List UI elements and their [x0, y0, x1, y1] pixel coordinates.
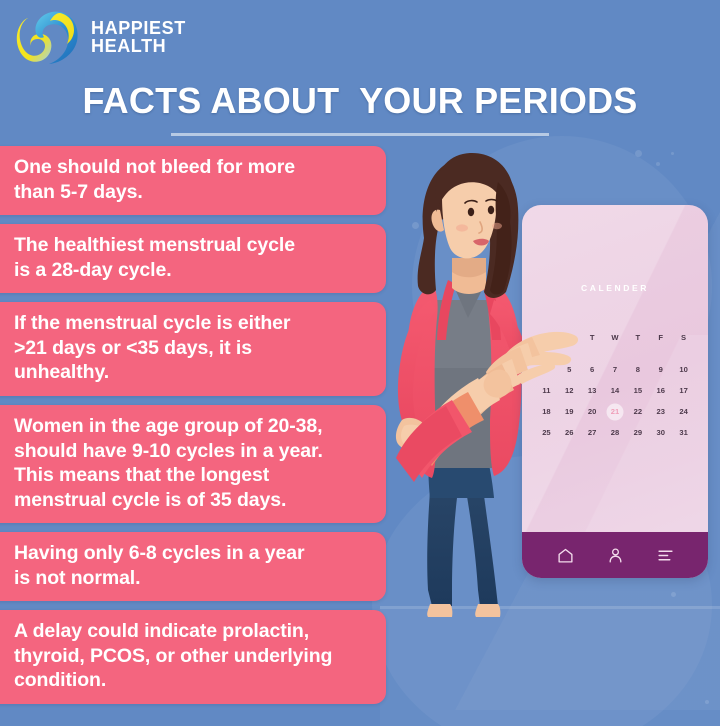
- brand-logo-block: HAPPIEST HEALTH: [16, 8, 186, 66]
- calendar-day[interactable]: 19: [558, 407, 581, 416]
- calendar-day[interactable]: 12: [558, 386, 581, 395]
- calendar-day[interactable]: 20: [581, 407, 604, 416]
- brand-line-2: HEALTH: [91, 37, 186, 55]
- calendar-day[interactable]: 10: [672, 365, 695, 374]
- day-header: S: [535, 333, 558, 342]
- calendar-day[interactable]: 7: [604, 365, 627, 374]
- calendar-day[interactable]: 22: [626, 407, 649, 416]
- calendar-day[interactable]: 28: [604, 428, 627, 437]
- calendar-day[interactable]: 25: [535, 428, 558, 437]
- calendar-day[interactable]: 13: [581, 386, 604, 395]
- calendar-title: CALENDER: [522, 283, 708, 293]
- background-floor: [380, 609, 720, 726]
- calendar-week-row: 11 12 13 14 15 16 17: [535, 386, 695, 395]
- calendar-day[interactable]: 24: [672, 407, 695, 416]
- background-dot: [656, 162, 660, 166]
- calendar-day[interactable]: 17: [672, 386, 695, 395]
- list-icon[interactable]: [657, 547, 674, 564]
- background-dot: [671, 592, 676, 597]
- day-header: S: [672, 333, 695, 342]
- calendar-day[interactable]: 11: [535, 386, 558, 395]
- calendar-day[interactable]: 4: [535, 365, 558, 374]
- infographic-poster: HAPPIEST HEALTH FACTS ABOUT YOUR PERIODS: [0, 0, 720, 726]
- calendar-week-row: 25 26 27 28 29 30 31: [535, 428, 695, 437]
- brand-line-1: HAPPIEST: [91, 19, 186, 37]
- calendar-day[interactable]: 18: [535, 407, 558, 416]
- calendar-day[interactable]: 6: [581, 365, 604, 374]
- home-icon[interactable]: [557, 547, 574, 564]
- calendar-day[interactable]: 14: [604, 386, 627, 395]
- fact-card: Women in the age group of 20-38, should …: [0, 405, 386, 523]
- day-header: T: [581, 333, 604, 342]
- calendar-day[interactable]: 5: [558, 365, 581, 374]
- facts-list: One should not bleed for more than 5-7 d…: [0, 146, 386, 713]
- calendar-day[interactable]: 9: [649, 365, 672, 374]
- day-header: F: [649, 333, 672, 342]
- title-underline: [171, 133, 549, 136]
- phone-mockup: CALENDER S M T W T F S 4 5 6 7 8 9 10: [522, 205, 708, 578]
- user-icon[interactable]: [607, 547, 624, 564]
- calendar-day[interactable]: 23: [649, 407, 672, 416]
- page-title: FACTS ABOUT YOUR PERIODS: [0, 80, 720, 136]
- brand-wordmark: HAPPIEST HEALTH: [91, 19, 186, 56]
- phone-bottom-nav: [522, 532, 708, 578]
- page-title-text: FACTS ABOUT YOUR PERIODS: [82, 80, 637, 122]
- calendar-day-headers: S M T W T F S: [535, 333, 695, 342]
- fact-card: One should not bleed for more than 5-7 d…: [0, 146, 386, 215]
- background-dot: [412, 222, 419, 229]
- calendar-week-row: 18 19 20 21 22 23 24: [535, 407, 695, 416]
- fact-card: Having only 6-8 cycles in a year is not …: [0, 532, 386, 601]
- background-dot: [635, 150, 642, 157]
- day-header: M: [558, 333, 581, 342]
- background-ground-line: [380, 606, 720, 609]
- calendar-week-row: 4 5 6 7 8 9 10: [535, 365, 695, 374]
- calendar-day[interactable]: 26: [558, 428, 581, 437]
- background-dot: [671, 152, 674, 155]
- calendar-day[interactable]: 27: [581, 428, 604, 437]
- day-header: T: [626, 333, 649, 342]
- calendar-day[interactable]: 29: [626, 428, 649, 437]
- fact-card: The healthiest menstrual cycle is a 28-d…: [0, 224, 386, 293]
- background-dot: [705, 700, 709, 704]
- heart-swoosh-logo-icon: [16, 8, 82, 66]
- day-header: W: [604, 333, 627, 342]
- fact-card: If the menstrual cycle is either >21 day…: [0, 302, 386, 396]
- calendar-day[interactable]: 31: [672, 428, 695, 437]
- calendar-day-selected[interactable]: 21: [604, 407, 627, 416]
- calendar-day[interactable]: 16: [649, 386, 672, 395]
- calendar-grid: S M T W T F S 4 5 6 7 8 9 10 11 12 13: [535, 333, 695, 449]
- fact-card: A delay could indicate prolactin, thyroi…: [0, 610, 386, 704]
- calendar-day[interactable]: 15: [626, 386, 649, 395]
- calendar-day[interactable]: 30: [649, 428, 672, 437]
- calendar-day[interactable]: 8: [626, 365, 649, 374]
